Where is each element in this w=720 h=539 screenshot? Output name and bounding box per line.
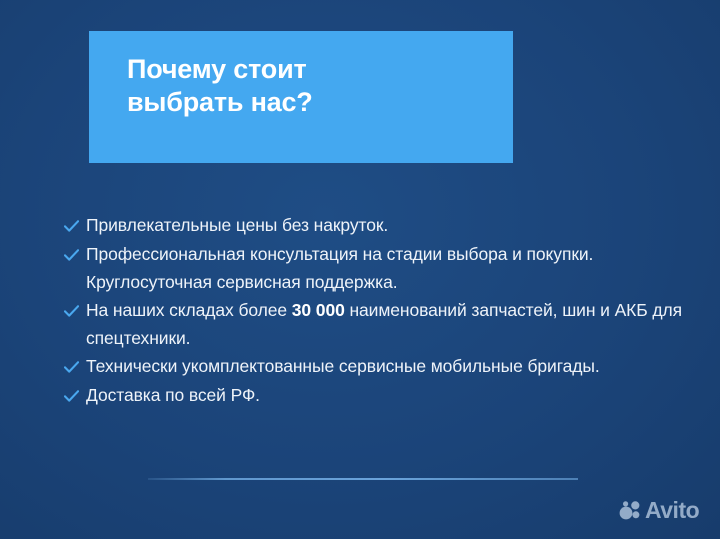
check-icon [64,352,86,381]
list-item-label: Привлекательные цены без накруток. [86,211,684,239]
list-item-label: Доставка по всей РФ. [86,381,684,409]
avito-wordmark: Avito [645,499,699,522]
check-icon [64,381,86,410]
title-box: Почему стоит выбрать нас? [89,31,513,163]
divider [148,478,578,480]
avito-circles-logo-icon [619,501,641,521]
list-item-label: На наших складах более 30 000 наименован… [86,296,684,352]
list-item: Профессиональная консультация на стадии … [64,240,684,296]
page-title-line-2: выбрать нас? [127,86,513,119]
page-title-line-1: Почему стоит [127,53,513,86]
check-icon [64,296,86,325]
list-item: Доставка по всей РФ. [64,381,684,410]
list-item: На наших складах более 30 000 наименован… [64,296,684,352]
list-item: Привлекательные цены без накруток. [64,211,684,240]
check-icon [64,211,86,240]
list-item: Технически укомплектованные сервисные мо… [64,352,684,381]
slide-canvas: Почему стоит выбрать нас? Привлекательны… [0,0,720,539]
check-icon [64,240,86,269]
list-item-label: Технически укомплектованные сервисные мо… [86,352,684,380]
avito-watermark: Avito [619,499,699,522]
list-item-label: Профессиональная консультация на стадии … [86,240,684,296]
benefits-list: Привлекательные цены без накруток. Профе… [64,211,684,410]
